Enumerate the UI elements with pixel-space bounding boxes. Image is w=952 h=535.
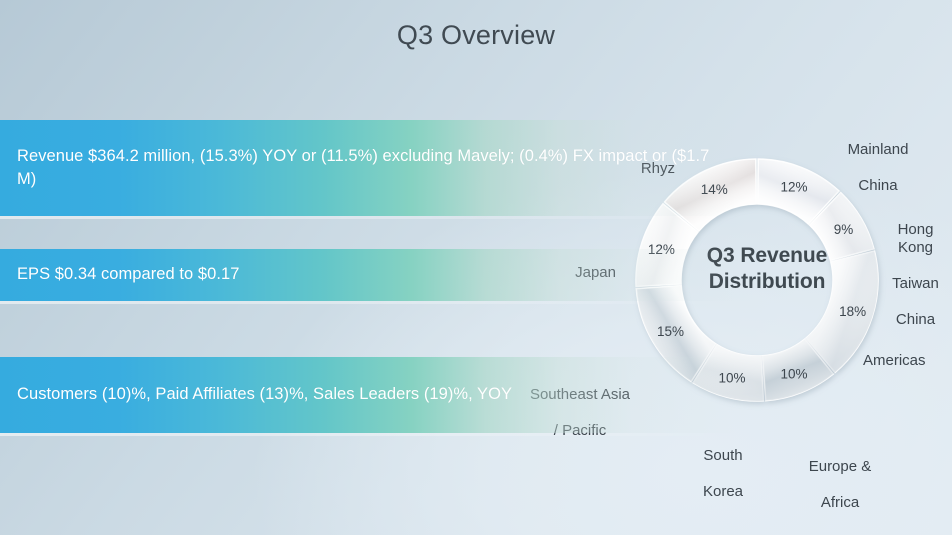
donut-label-south-korea-line1: South [673,447,773,465]
donut-label-mainland-china-line1: Mainland [818,141,938,159]
bullet-bar-customers: Customers (10)%, Paid Affiliates (13)%, … [0,357,735,433]
donut-label-europe-africa-line1: Europe & [785,458,895,476]
donut-label-china: China [879,311,952,329]
bullet-text-customers: Customers (10)%, Paid Affiliates (13)%, … [17,383,512,406]
donut-label-hongkong: Hong Kong [879,221,952,257]
donut-label-hongkong-taiwan-china: Hong Kong Taiwan China [879,203,952,347]
donut-label-europe-africa-line2: Africa [785,494,895,512]
donut-label-south-korea-line2: Korea [673,483,773,501]
bullet-bar-revenue: Revenue $364.2 million, (15.3%) YOY or (… [0,120,735,216]
donut-slice-percent: 15% [657,324,684,339]
donut-label-taiwan: Taiwan [879,275,952,293]
page-title: Q3 Overview [0,20,952,51]
donut-slice-percent: 10% [780,366,807,381]
donut-slice-percent: 9% [834,222,854,237]
donut-label-europe-africa: Europe & Africa [785,440,895,530]
donut-label-americas-line1: Americas [863,352,952,370]
bullet-text-revenue: Revenue $364.2 million, (15.3%) YOY or (… [17,145,715,192]
bullet-text-eps: EPS $0.34 compared to $0.17 [17,263,239,286]
slide-canvas: Q3 Overview Revenue $364.2 million, (15.… [0,0,952,535]
bullet-bar-eps: EPS $0.34 compared to $0.17 [0,249,735,301]
donut-label-americas: Americas [863,334,952,388]
donut-label-mainland-china: Mainland China [818,123,938,213]
donut-label-south-korea: South Korea [673,429,773,519]
donut-label-mainland-china-line2: China [818,177,938,195]
donut-slice-percent: 18% [839,304,866,319]
donut-slice-percent: 12% [780,180,807,195]
